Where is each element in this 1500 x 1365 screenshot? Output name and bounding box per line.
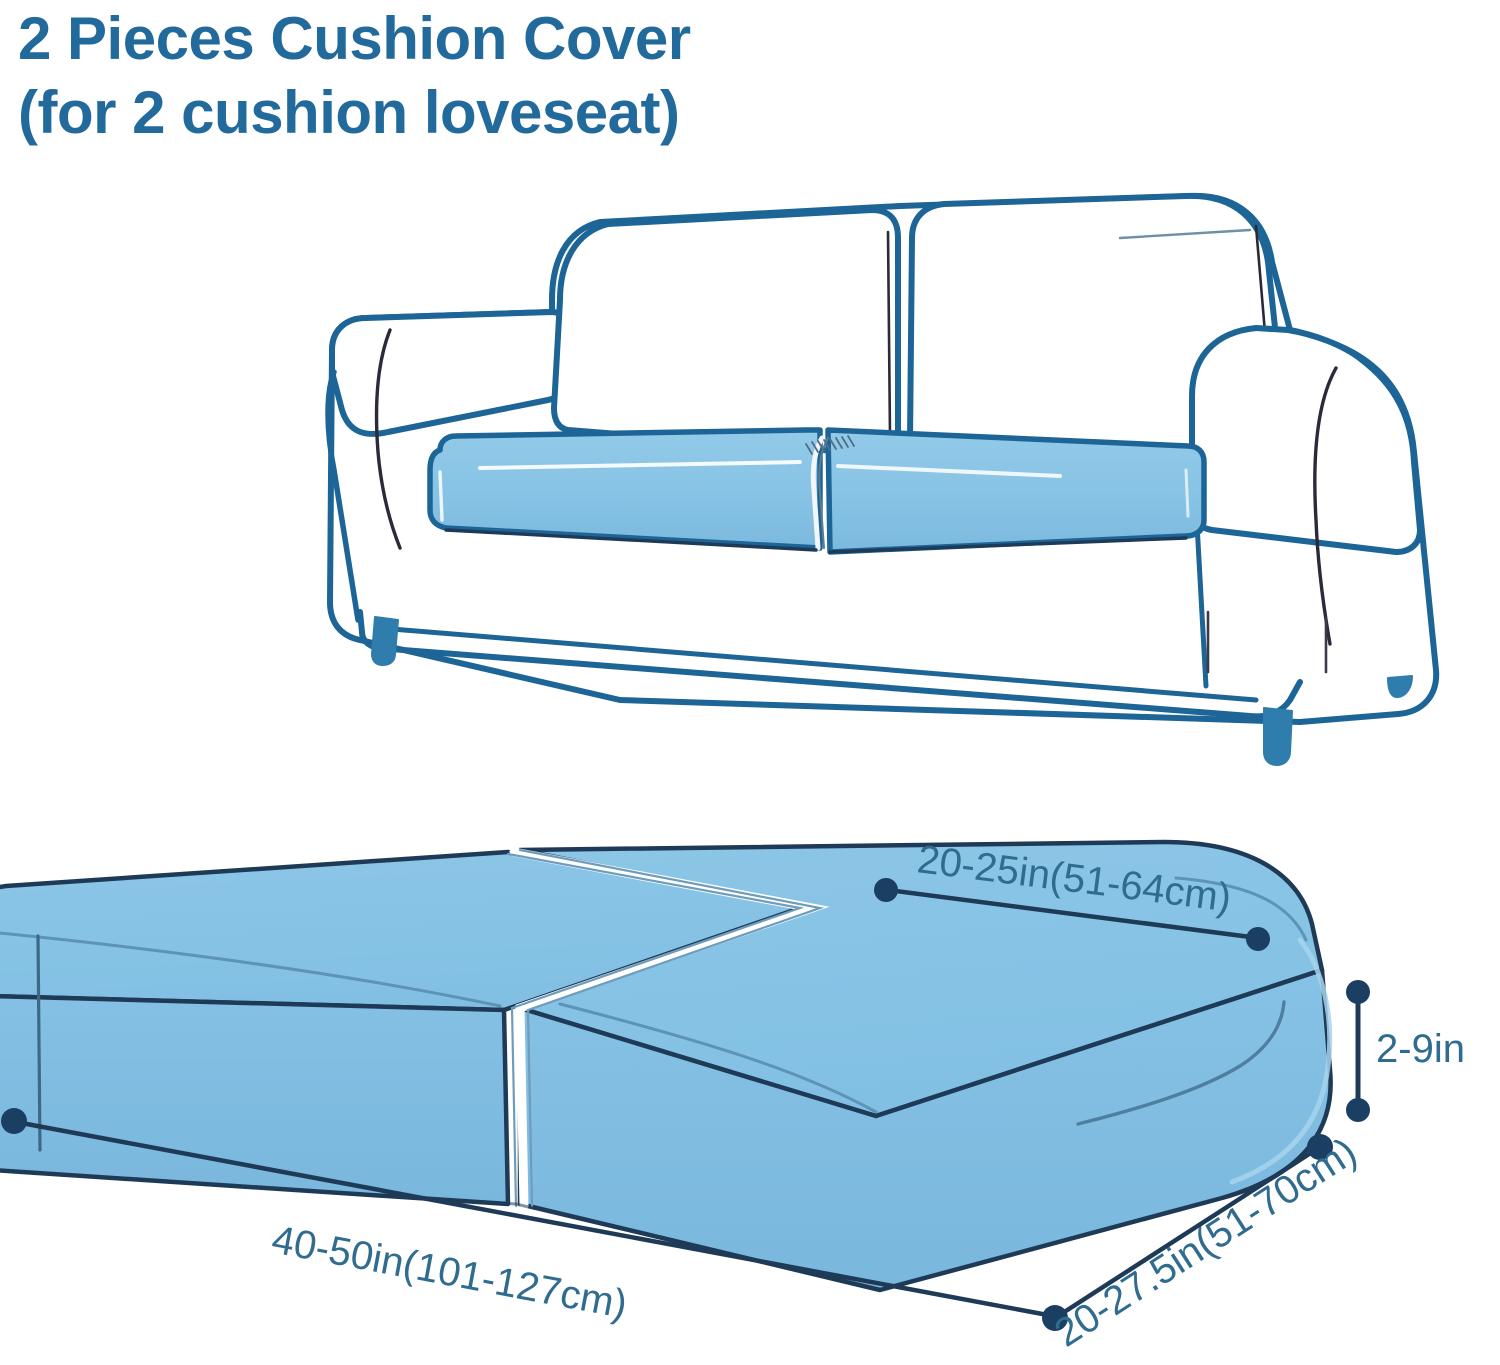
sofa-back-cushion-left [554, 210, 898, 454]
sofa-body-group [328, 196, 1436, 765]
sofa-seat-cushion-left [430, 430, 820, 548]
dimension-depth-top-dot-start [874, 878, 898, 902]
sofa-leg-front-left [372, 617, 398, 665]
cushion-block-group [0, 842, 1331, 1290]
dimension-height-right-label: 2-9in [1376, 1027, 1465, 1071]
sofa-seat-right-corner-highlight [1186, 470, 1188, 516]
dimension-height-right: 2-9in [1346, 980, 1465, 1122]
dimension-height-right-dot-top [1346, 980, 1370, 1004]
product-diagram-page: 2 Pieces Cushion Cover (for 2 cushion lo… [0, 0, 1500, 1365]
cushion-left-side-crease [38, 936, 40, 1150]
dimension-width-bottom-dot-start [1, 1108, 27, 1134]
cushion-pair-illustration: 20-25in(51-64cm) 2-9in 40-50in(101-127cm… [0, 820, 1500, 1365]
dimension-height-right-dot-bottom [1346, 1098, 1370, 1122]
dimension-depth-top-dot-end [1246, 927, 1270, 951]
loveseat-illustration [0, 0, 1500, 800]
sofa-seat-cushion-right [828, 430, 1204, 552]
sofa-leg-front-right [1264, 708, 1292, 765]
sofa-right-arm-roll [1192, 328, 1420, 552]
sofa-seat-left-corner-highlight [440, 472, 442, 520]
dimension-width-bottom-label: 40-50in(101-127cm) [268, 1218, 630, 1328]
